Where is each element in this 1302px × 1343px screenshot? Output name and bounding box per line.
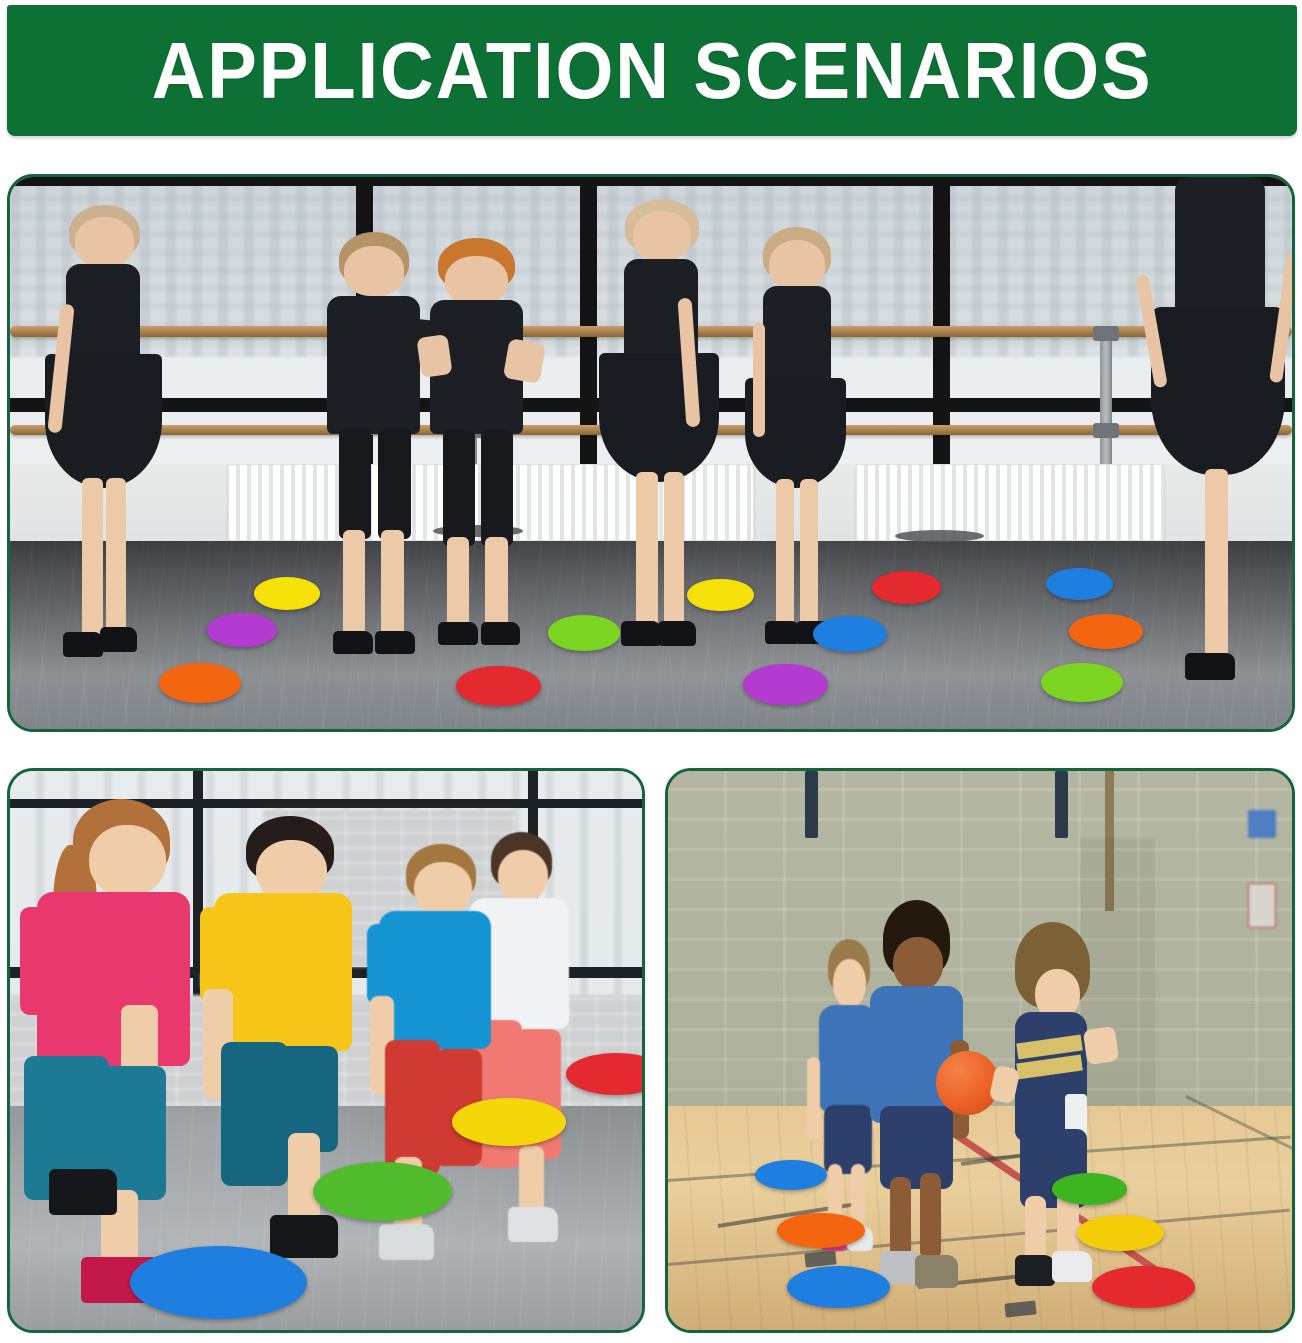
dance-studio-photo bbox=[7, 174, 1295, 732]
dance-instructor bbox=[1138, 177, 1295, 718]
floor-marker-blue bbox=[130, 1246, 307, 1319]
window-mullion bbox=[10, 177, 1292, 186]
floor-marker-red bbox=[872, 571, 941, 604]
floor-marker-blue bbox=[813, 616, 887, 652]
exercising-child bbox=[364, 844, 516, 1291]
page-title: APPLICATION SCENARIOS bbox=[152, 31, 1153, 111]
floor-marker-yellow bbox=[687, 579, 754, 612]
floor-marker-yellow bbox=[1077, 1215, 1164, 1251]
radiator bbox=[856, 464, 1164, 541]
gym-scene bbox=[668, 771, 1292, 1330]
wall-poster bbox=[1248, 883, 1276, 928]
playing-child bbox=[992, 922, 1117, 1313]
floor-marker-red bbox=[456, 666, 541, 707]
playground-ball bbox=[936, 1051, 998, 1115]
dance-studio-scene bbox=[10, 177, 1292, 729]
floor-marker-orange bbox=[777, 1213, 864, 1249]
gymnasium-photo bbox=[665, 768, 1295, 1333]
lunge-class-scene bbox=[10, 771, 642, 1330]
floor-marker-purple bbox=[207, 613, 276, 647]
floor-marker-green bbox=[1052, 1173, 1127, 1204]
header-banner: APPLICATION SCENARIOS bbox=[7, 5, 1297, 136]
wall-sign bbox=[1248, 810, 1276, 838]
floor-marker-blue bbox=[1046, 568, 1113, 600]
floor-marker-red bbox=[1092, 1266, 1195, 1308]
floor-marker-green bbox=[548, 615, 620, 650]
exercising-child bbox=[200, 816, 377, 1297]
dancer-child bbox=[29, 205, 183, 702]
application-scenarios-page: APPLICATION SCENARIOS bbox=[0, 0, 1302, 1343]
dancer-child bbox=[407, 238, 548, 685]
floor-marker-green bbox=[313, 1162, 452, 1221]
floor-marker-blue bbox=[787, 1266, 890, 1308]
floor-marker-green bbox=[1041, 663, 1123, 703]
lunge-exercise-photo bbox=[7, 768, 645, 1333]
floor-marker-purple bbox=[743, 664, 828, 705]
wall-beam bbox=[1055, 771, 1068, 838]
exercising-child bbox=[16, 799, 218, 1313]
floor-marker-orange bbox=[159, 663, 241, 703]
floor-marker-yellow bbox=[452, 1098, 566, 1146]
wall-beam bbox=[805, 771, 818, 838]
floor-marker-blue bbox=[755, 1160, 827, 1190]
